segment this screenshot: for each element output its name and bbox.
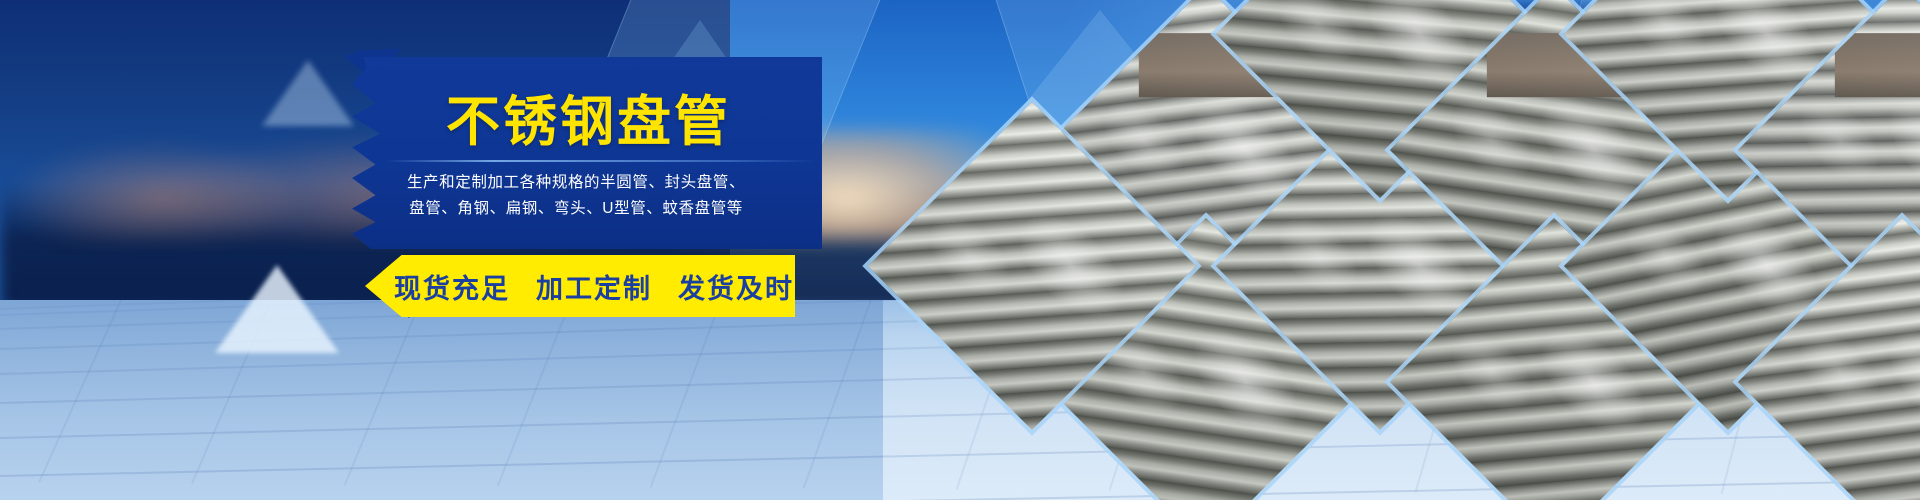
product-photo-collage	[1030, 0, 1920, 500]
feature-item-2: 加工定制	[536, 267, 652, 306]
feature-item-1: 现货充足	[394, 267, 510, 306]
subtitle-block: 生产和定制加工各种规格的半圆管、封头盘管、 盘管、角钢、扁钢、弯头、U型管、蚊香…	[396, 170, 756, 222]
panel-divider-line	[386, 160, 816, 162]
feature-item-3: 发货及时	[678, 267, 794, 306]
subtitle-line-1: 生产和定制加工各种规格的半圆管、封头盘管、	[396, 170, 756, 196]
features-ribbon-text: 现货充足 加工定制 发货及时	[365, 255, 795, 317]
page-title: 不锈钢盘管	[446, 95, 846, 149]
decor-triangle-left	[215, 265, 339, 353]
subtitle-line-2: 盘管、角钢、扁钢、弯头、U型管、蚊香盘管等	[396, 196, 756, 222]
promo-banner: 不锈钢盘管 生产和定制加工各种规格的半圆管、封头盘管、 盘管、角钢、扁钢、弯头、…	[0, 0, 1920, 500]
decor-triangle-sky-1	[262, 60, 354, 126]
